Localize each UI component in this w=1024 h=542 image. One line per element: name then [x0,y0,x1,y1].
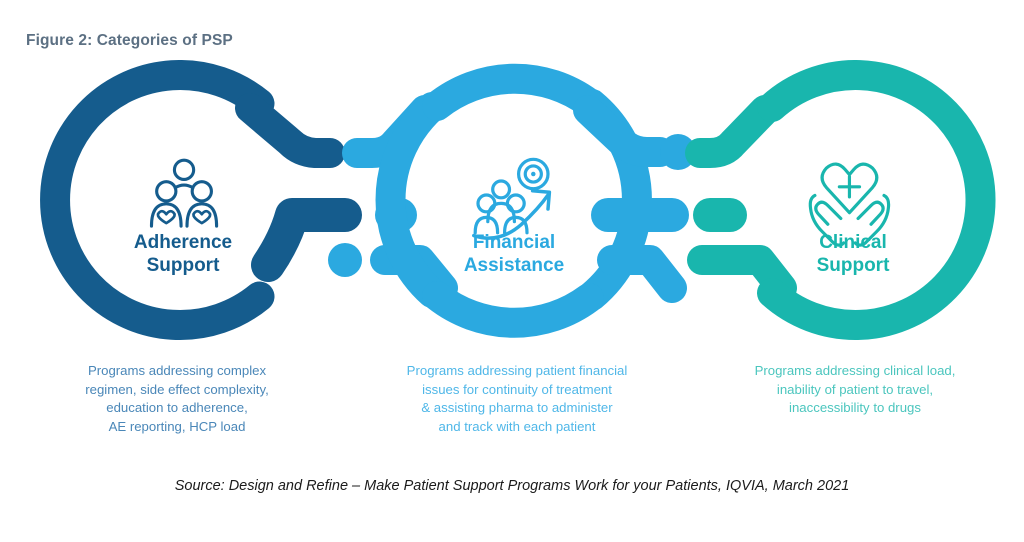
caption-line: Programs addressing clinical load, [705,362,1005,381]
node-caption-clinical: Programs addressing clinical load, inabi… [705,362,1005,418]
node-label-clinical: Clinical Support [738,231,968,277]
node-caption-adherence: Programs addressing complex regimen, sid… [27,362,327,437]
node-financial[interactable] [391,79,672,323]
three-people-with-hearts-icon [151,160,216,226]
caption-line: inability of patient to travel, [705,381,1005,400]
node-label-adherence-line2: Support [68,254,298,277]
page-title: Figure 2: Categories of PSP [26,32,233,50]
node-adherence[interactable] [55,75,345,325]
caption-line: Programs addressing complex [27,362,327,381]
diagram-canvas [0,60,1024,380]
financial-ring-top [437,79,589,106]
caption-line: regimen, side effect complexity, [27,381,327,400]
caption-line: issues for continuity of treatment [367,381,667,400]
node-label-clinical-line2: Support [738,254,968,277]
clinical-ring [772,75,981,325]
node-label-clinical-line1: Clinical [738,231,968,254]
caption-line: inaccessibility to drugs [705,399,1005,418]
adherence-ring [55,75,259,325]
caption-line: & assisting pharma to administer [367,399,667,418]
node-label-financial-line2: Assistance [399,254,629,277]
people-target-growth-arrow-icon [474,159,550,238]
node-label-financial: Financial Assistance [399,231,629,277]
caption-line: education to adherence, [27,399,327,418]
node-label-financial-line1: Financial [399,231,629,254]
node-caption-financial: Programs addressing patient financial is… [367,362,667,437]
psp-categories-diagram [0,60,1024,380]
caption-line: AE reporting, HCP load [27,418,327,437]
caption-line: Programs addressing patient financial [367,362,667,381]
caption-line: and track with each patient [367,418,667,437]
node-clinical[interactable] [772,75,981,325]
source-note: Source: Design and Refine – Make Patient… [0,478,1024,494]
node-label-adherence-line1: Adherence [68,231,298,254]
adherence-connector-top [250,108,330,153]
financial-ring-bottom [437,296,589,323]
node-label-adherence: Adherence Support [68,231,298,277]
